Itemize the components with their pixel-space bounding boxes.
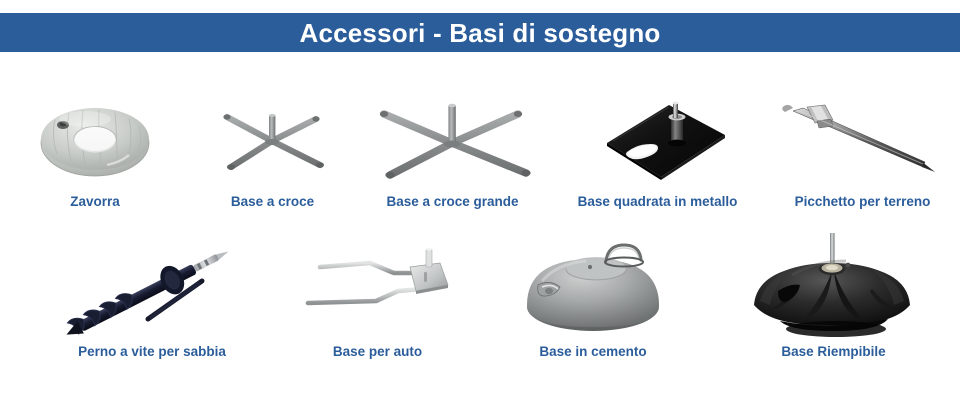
car-wheel-base-icon <box>298 241 458 336</box>
product-thumbnail <box>707 233 960 345</box>
product-thumbnail <box>550 83 765 195</box>
product-grid: Zavorra <box>0 60 960 400</box>
large-cross-base-icon <box>368 89 538 189</box>
product-thumbnail <box>28 233 276 345</box>
product-cell-perno-a-vite[interactable]: Perno a vite per sabbia <box>28 210 276 360</box>
fillable-base-icon <box>744 231 924 346</box>
product-cell-base-a-croce[interactable]: Base a croce <box>190 60 355 210</box>
product-cell-base-in-cemento[interactable]: Base in cemento <box>479 210 707 360</box>
cross-base-icon <box>208 89 338 189</box>
catalog-page: Accessori - Basi di sostegno <box>0 0 960 400</box>
product-label: Base Riempibile <box>781 345 885 361</box>
product-label: Base a croce <box>231 195 314 211</box>
product-cell-picchetto[interactable]: Picchetto per terreno <box>765 60 960 210</box>
product-label: Base in cemento <box>539 345 646 361</box>
concrete-base-icon <box>508 235 678 343</box>
page-title-bar: Accessori - Basi di sostegno <box>0 13 960 52</box>
sand-screw-anchor-icon <box>52 239 252 339</box>
product-cell-base-quadrata[interactable]: Base quadrata in metallo <box>550 60 765 210</box>
product-label: Base a croce grande <box>386 195 518 211</box>
product-cell-base-per-auto[interactable]: Base per auto <box>276 210 479 360</box>
row-spacer <box>0 210 28 360</box>
product-label: Base quadrata in metallo <box>578 195 738 211</box>
ground-stake-icon <box>773 94 953 184</box>
page-title: Accessori - Basi di sostegno <box>299 20 660 46</box>
square-metal-base-icon <box>583 89 733 189</box>
product-thumbnail <box>479 233 707 345</box>
product-label: Base per auto <box>333 345 422 361</box>
product-row: Perno a vite per sabbia <box>0 210 960 360</box>
product-row: Zavorra <box>0 60 960 210</box>
ring-ballast-icon <box>25 89 165 189</box>
product-thumbnail <box>276 233 479 345</box>
product-cell-base-a-croce-grande[interactable]: Base a croce grande <box>355 60 550 210</box>
product-label: Picchetto per terreno <box>795 195 931 211</box>
product-thumbnail <box>190 83 355 195</box>
product-label: Zavorra <box>70 195 120 211</box>
product-thumbnail <box>355 83 550 195</box>
product-cell-base-riempibile[interactable]: Base Riempibile <box>707 210 960 360</box>
product-label: Perno a vite per sabbia <box>78 345 226 361</box>
product-thumbnail <box>0 83 190 195</box>
product-thumbnail <box>765 83 960 195</box>
product-cell-zavorra[interactable]: Zavorra <box>0 60 190 210</box>
